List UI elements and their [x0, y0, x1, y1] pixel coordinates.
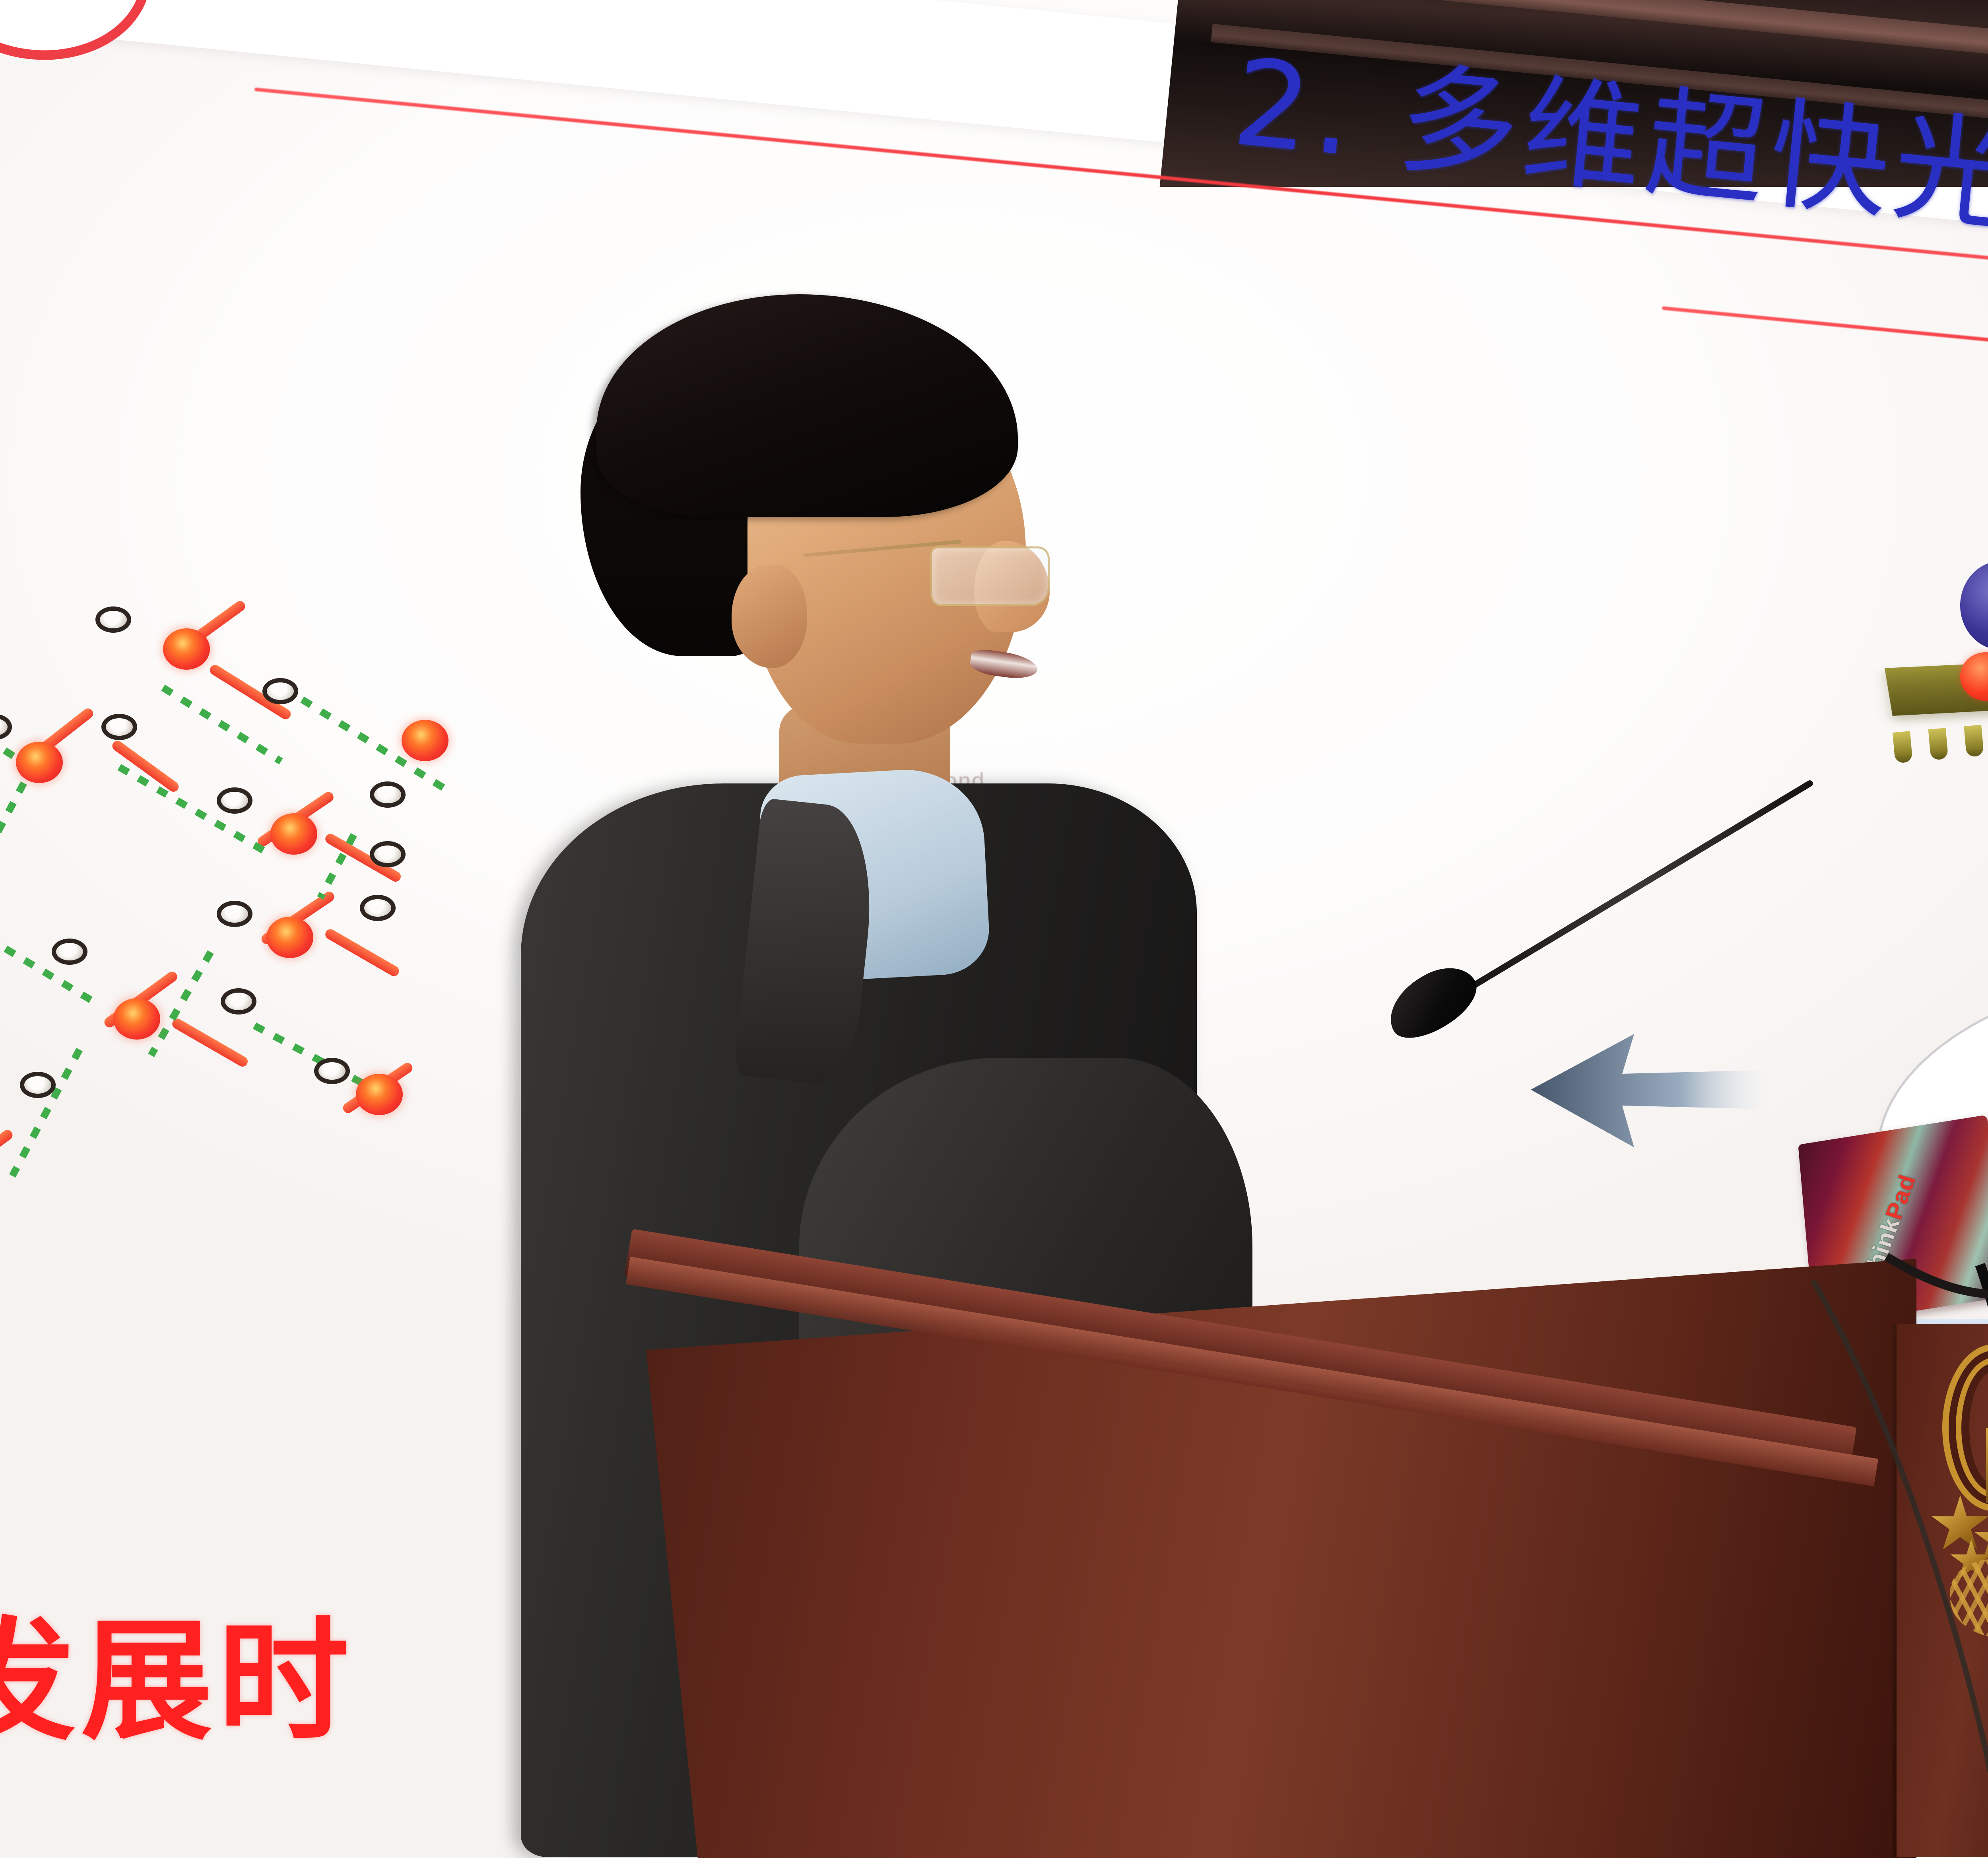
oxygen-atom	[163, 628, 210, 670]
speaker-ear	[732, 565, 807, 668]
hydrogen-atom	[314, 1058, 350, 1084]
hydrogen-bond	[0, 781, 27, 925]
oxygen-atom	[16, 742, 63, 783]
podium-emblem	[1926, 1344, 1988, 1646]
hydrogen-atom	[217, 787, 252, 814]
emblem-oval-ring	[1942, 1344, 1988, 1511]
hydrogen-bond	[253, 1022, 372, 1090]
hydrogen-atom	[101, 714, 137, 740]
oxygen-atom	[266, 917, 313, 958]
hydrogen-atom	[95, 606, 131, 633]
navy-atom	[1960, 561, 1988, 650]
oxygen-atom	[113, 998, 160, 1040]
hydrogen-atom	[221, 988, 256, 1015]
covalent-bond	[171, 1017, 250, 1069]
hydrogen-atom	[20, 1072, 56, 1098]
speaker-hair	[596, 294, 1018, 517]
oxygen-atom	[356, 1074, 403, 1115]
presentation-photo: 2. 多维超快光谱技	[0, 0, 1988, 1858]
eyeglass-lens	[930, 546, 1050, 606]
slide-red-text-left: 发展时	[0, 1575, 355, 1765]
oxygen-atom	[270, 813, 317, 855]
hydrogen-atom	[0, 714, 12, 740]
arrow-left-icon	[1527, 1010, 1781, 1169]
surface-molecule-diagram	[1837, 390, 1988, 835]
hydrogen-bond	[9, 1048, 83, 1178]
hydrogen-atom	[370, 781, 406, 808]
speaker-eyeglasses	[803, 533, 1050, 612]
emblem-wheat-wreath	[1950, 1559, 1988, 1638]
hydrogen-atom	[217, 901, 252, 927]
hydrogen-atom	[52, 939, 87, 965]
hydrogen-atom	[262, 678, 298, 704]
hydrogen-atom	[360, 895, 396, 921]
covalent-bond	[324, 927, 401, 978]
emblem-center-glyph	[1986, 1428, 1988, 1503]
hydrogen-atom	[370, 841, 406, 867]
covalent-bond	[0, 1128, 15, 1186]
